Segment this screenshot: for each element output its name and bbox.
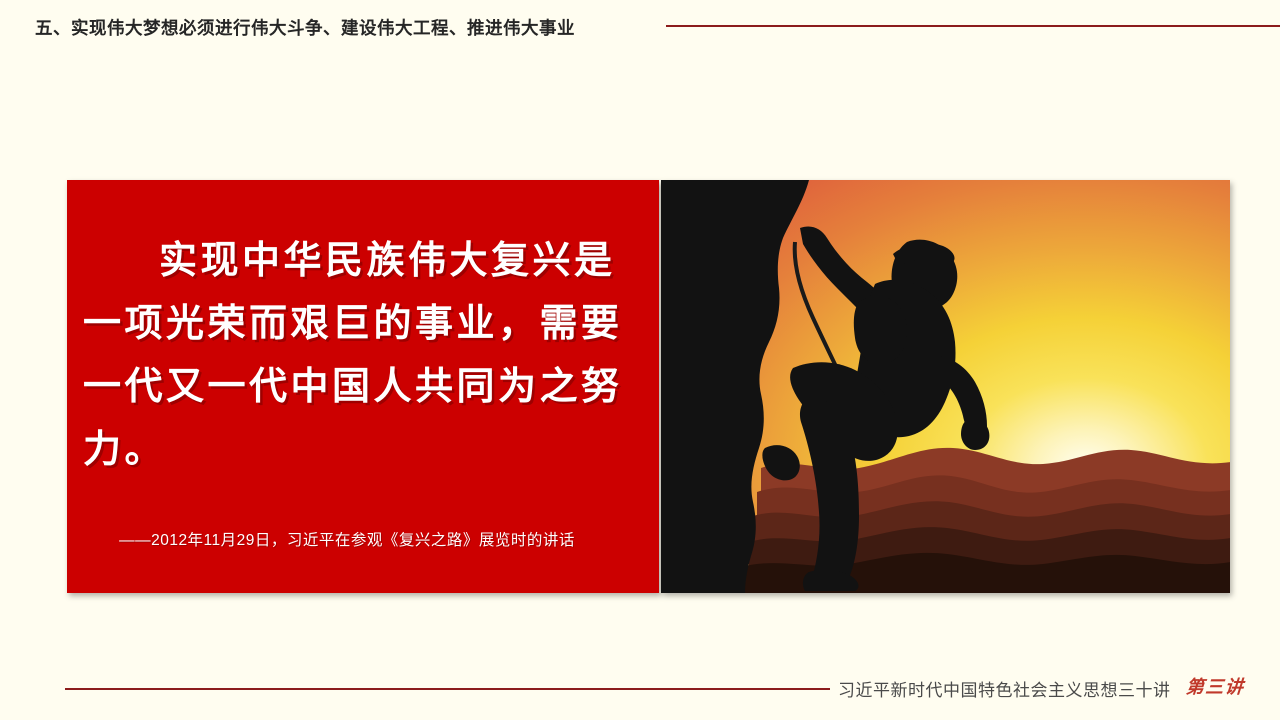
content-area: 实现中华民族伟大复兴是一项光荣而艰巨的事业，需要一代又一代中国人共同为之努力。 … <box>67 180 1230 593</box>
footer-course-title: 习近平新时代中国特色社会主义思想三十讲 <box>838 676 1171 701</box>
quote-attribution: ——2012年11月29日，习近平在参观《复兴之路》展览时的讲话 <box>67 528 627 550</box>
header-divider-rule <box>666 25 1280 27</box>
footer-lecture-badge: 第三讲 <box>1185 673 1245 699</box>
slide-footer: 习近平新时代中国特色社会主义思想三十讲 第三讲 <box>0 660 1280 720</box>
climber-illustration-panel <box>661 180 1230 593</box>
quote-text: 实现中华民族伟大复兴是一项光荣而艰巨的事业，需要一代又一代中国人共同为之努力。 <box>83 228 643 480</box>
quote-panel: 实现中华民族伟大复兴是一项光荣而艰巨的事业，需要一代又一代中国人共同为之努力。 … <box>67 180 659 593</box>
slide-header: 五、实现伟大梦想必须进行伟大斗争、建设伟大工程、推进伟大事业 <box>0 0 1280 52</box>
page-title: 五、实现伟大梦想必须进行伟大斗争、建设伟大工程、推进伟大事业 <box>35 15 575 40</box>
footer-divider-rule <box>65 688 830 690</box>
rock-climber-sunset-icon <box>661 180 1230 593</box>
